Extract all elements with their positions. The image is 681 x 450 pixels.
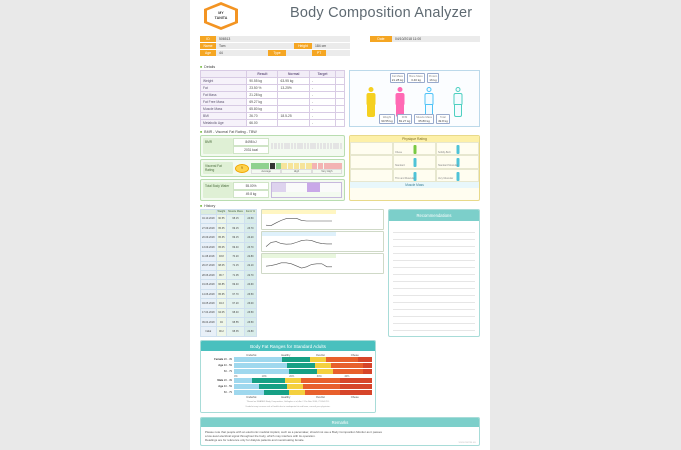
bfr-note-2: Underfat may increase risk of health due… bbox=[204, 406, 372, 409]
bfr-category: Healthy bbox=[269, 396, 304, 399]
age-label: Age bbox=[200, 50, 216, 56]
table-row: 26.07.201898.0571.1522.10 bbox=[201, 261, 257, 270]
history-charts: WeightMuscle MassFat in % bbox=[261, 209, 384, 337]
details-col-3: Target bbox=[309, 71, 335, 78]
name-value[interactable]: Tom bbox=[216, 43, 294, 49]
table-row: 11.08.201893.870.2022.80 bbox=[201, 252, 257, 261]
bfr-title: Body Fat Ranges for Standard Adults bbox=[201, 341, 375, 351]
details-col-0 bbox=[201, 71, 247, 78]
diagram-chip: Muscle Mass65.80 kg bbox=[414, 114, 434, 124]
recommendation-line[interactable] bbox=[393, 289, 475, 296]
bfr-row: 60 - 79 bbox=[204, 390, 372, 395]
recommendations-panel: Recommendations bbox=[388, 209, 480, 337]
physique-rating-panel: Physique Rating ObeseSolidly-BuiltStanda… bbox=[349, 135, 480, 201]
recommendations-body[interactable] bbox=[389, 221, 479, 336]
recommendation-line[interactable] bbox=[393, 303, 475, 310]
report-page: MY TANITA Body Composition Analyzer Date… bbox=[190, 0, 490, 450]
table-row: Fat23.50 %13-25%- bbox=[201, 85, 345, 92]
visceral-scale-label: High bbox=[281, 169, 311, 174]
patient-info-bar: Date 04/10/2018 11:00 ID 506513 Name Tom… bbox=[200, 36, 480, 62]
body-figure-icon bbox=[365, 87, 376, 117]
bfr-category: Obese bbox=[338, 396, 373, 399]
bfr-row: Age 40 - 59 bbox=[204, 363, 372, 368]
recommendation-line[interactable] bbox=[393, 324, 475, 331]
table-row: 20.09.201895.3569.1524.20 bbox=[201, 233, 257, 242]
details-col-4 bbox=[336, 71, 345, 78]
remarks-line-3: Readings are for reference only for dial… bbox=[205, 438, 475, 442]
body-figure-icon bbox=[394, 87, 405, 117]
type-value[interactable] bbox=[286, 50, 312, 56]
id-row: ID 506513 bbox=[200, 36, 350, 42]
logo-line2: TANITA bbox=[215, 16, 228, 21]
table-row: 13.09.201895.0569.4023.70 bbox=[201, 242, 257, 251]
physique-cell: Standard Muscular bbox=[436, 155, 479, 168]
history-section: WeightMuscle MassFat in % 04.10.201890.5… bbox=[200, 209, 480, 337]
visceral-dial: 9 bbox=[235, 164, 249, 173]
bfr-row: Age 40 - 59 bbox=[204, 384, 372, 389]
table-row: 14.06.201895.6567.7023.50 bbox=[201, 289, 257, 298]
bmr-kj: 8498 kJ bbox=[233, 138, 269, 146]
age-row: Age 44 Type PT bbox=[200, 50, 350, 56]
recommendation-line[interactable] bbox=[393, 268, 475, 275]
height-value[interactable]: 184 cm bbox=[312, 43, 350, 49]
bmr-kcal: 2031 kcal bbox=[233, 146, 269, 154]
recommendation-line[interactable] bbox=[393, 296, 475, 303]
history-chart: Fat in % bbox=[261, 253, 384, 274]
page-title: Body Composition Analyzer bbox=[290, 5, 472, 21]
table-row: 04.10.201890.5568.1524.50 bbox=[201, 214, 257, 223]
body-figure-icon bbox=[424, 87, 435, 117]
type-label: Type bbox=[268, 50, 286, 56]
details-header-row: ResultNormalTarget bbox=[201, 71, 345, 78]
bfr-row: Female 20 - 39 bbox=[204, 357, 372, 362]
physique-cell: Standard bbox=[393, 155, 436, 168]
tbw-mass: 49.8 kg bbox=[233, 190, 269, 198]
details-section: ResultNormalTarget Weight90.55 kg63-95 k… bbox=[200, 70, 480, 127]
tbw-box: Total Body Water 55.00% 49.8 kg bbox=[200, 179, 345, 201]
recommendation-line[interactable] bbox=[393, 254, 475, 261]
date-label: Date bbox=[370, 36, 392, 42]
bottom-row: Body Fat Ranges for Standard Adults Unde… bbox=[200, 340, 480, 413]
body-composition-diagram: Fat Mass21.28 kgBone Mass3.40 kgProtein1… bbox=[349, 70, 480, 127]
physique-grid: ObeseSolidly-BuiltStandardStandard Muscu… bbox=[350, 142, 479, 182]
physique-cell bbox=[350, 155, 393, 168]
recommendation-line[interactable] bbox=[393, 240, 475, 247]
table-row: Fat Free Mass69.27 kg- bbox=[201, 99, 345, 106]
table-row: 04.05.201894.367.2023.00 bbox=[201, 299, 257, 308]
physique-cell: Thin and Muscular bbox=[393, 169, 436, 182]
remarks-title: Remarks bbox=[201, 418, 479, 427]
section-title-bmr: BMR - Visceral Fat Rating - TBW bbox=[200, 130, 490, 134]
bmr-label: BMR bbox=[203, 138, 233, 154]
name-label: Name bbox=[200, 43, 216, 49]
physique-cell: Solidly-Built bbox=[436, 142, 479, 155]
tbw-label: Total Body Water bbox=[203, 182, 233, 198]
bfr-category: Overfat bbox=[303, 396, 338, 399]
body-figure-icon bbox=[453, 87, 464, 117]
table-row: BMI26.7018.5-25- bbox=[201, 113, 345, 120]
bfr-note-1: *Based on NHANES Body Composition, Galla… bbox=[204, 401, 372, 404]
remarks-panel: Remarks Please note that people with an … bbox=[200, 417, 480, 447]
table-row: Metabolic Age66.00- bbox=[201, 120, 345, 127]
diagram-chip: Bone Mass3.40 kg bbox=[407, 73, 424, 83]
details-table: ResultNormalTarget Weight90.55 kg63-95 k… bbox=[200, 70, 345, 127]
recommendation-line[interactable] bbox=[393, 275, 475, 282]
section-title-details: Details bbox=[200, 65, 490, 69]
recommendations-title: Recommendations bbox=[389, 210, 479, 221]
name-row: Name Tom Height 184 cm bbox=[200, 43, 350, 49]
visceral-label: Visceral Fat Rating bbox=[203, 162, 233, 174]
id-value[interactable]: 506513 bbox=[216, 36, 350, 42]
physique-cell: Very Muscular bbox=[436, 169, 479, 182]
table-row: Fat Mass21.28 kg- bbox=[201, 92, 345, 99]
diagram-chip: Fat Mass21.28 kg bbox=[390, 73, 406, 83]
tbw-bar bbox=[271, 182, 342, 198]
age-value[interactable]: 44 bbox=[216, 50, 268, 56]
recommendation-line[interactable] bbox=[393, 233, 475, 240]
id-label: ID bbox=[200, 36, 216, 42]
recommendation-line[interactable] bbox=[393, 282, 475, 289]
bmr-bar bbox=[271, 138, 342, 154]
details-col-1: Result bbox=[247, 71, 278, 78]
bmr-box: BMR 8498 kJ 2031 kcal bbox=[200, 135, 345, 157]
physique-cell bbox=[350, 142, 393, 155]
section-title-history: History bbox=[200, 204, 490, 208]
table-row: 17.04.201894.0568.4023.50 bbox=[201, 308, 257, 317]
diagram-bottom-chips: Weight90.55 kgFFM69.27 kgMuscle Mass65.8… bbox=[350, 114, 479, 124]
table-row: Weight90.55 kg63-95 kg- bbox=[201, 78, 345, 85]
history-chart: Weight bbox=[261, 209, 384, 230]
diagram-chip: Total49.8 kg bbox=[436, 114, 450, 124]
report-header: MY TANITA Body Composition Analyzer bbox=[190, 0, 490, 30]
diagram-top-chips: Fat Mass21.28 kgBone Mass3.40 kgProtein1… bbox=[350, 71, 479, 83]
table-row: 19.06.201896.8569.4024.60 bbox=[201, 280, 257, 289]
visceral-fat-box: Visceral Fat Rating 9 AverageHighVery Hi… bbox=[200, 159, 345, 177]
date-row: Date 04/10/2018 11:00 bbox=[370, 36, 480, 42]
visceral-scale-label: Very High bbox=[312, 169, 342, 174]
bfr-body: UnderfatHealthyOverfatObese Female 20 - … bbox=[201, 351, 375, 412]
pt-label: PT bbox=[312, 50, 326, 56]
body-figures bbox=[350, 83, 479, 117]
history-table: WeightMuscle MassFat in % 04.10.201890.5… bbox=[200, 209, 257, 337]
bfr-categories-bottom: UnderfatHealthyOverfatObese bbox=[234, 396, 372, 399]
bfr-category: Underfat bbox=[234, 396, 269, 399]
visceral-scale-label: Average bbox=[251, 169, 281, 174]
height-label: Height bbox=[294, 43, 312, 49]
details-col-2: Normal bbox=[278, 71, 309, 78]
bfr-row: 60 - 79 bbox=[204, 369, 372, 374]
bfr-row: Male 20 - 39 bbox=[204, 378, 372, 383]
table-row: Initial90.268.3522.80 bbox=[201, 327, 257, 337]
recommendation-line[interactable] bbox=[393, 247, 475, 254]
history-chart: Muscle Mass bbox=[261, 231, 384, 252]
pt-value[interactable] bbox=[326, 50, 350, 56]
recommendation-line[interactable] bbox=[393, 317, 475, 324]
footer-text: www.tanita.eu bbox=[459, 440, 476, 444]
recommendation-line[interactable] bbox=[393, 310, 475, 317]
table-row: 09.04.20189468.5523.50 bbox=[201, 318, 257, 327]
bmr-section: BMR 8498 kJ 2031 kcal Visceral Fat Ratin… bbox=[200, 135, 480, 201]
tbw-percent: 55.00% bbox=[233, 182, 269, 190]
recommendation-line[interactable] bbox=[393, 261, 475, 268]
remarks-body: Please note that people with an electron… bbox=[201, 427, 479, 446]
table-row: Muscle Mass65.80 kg- bbox=[201, 106, 345, 113]
date-value: 04/10/2018 11:00 bbox=[392, 36, 480, 42]
diagram-chip: Weight90.55 kg bbox=[379, 114, 395, 124]
bfr-female-rows: Female 20 - 39Age 40 - 59 60 - 79 bbox=[204, 357, 372, 374]
body-fat-ranges-panel: Body Fat Ranges for Standard Adults Unde… bbox=[200, 340, 376, 413]
physique-cell: Obese bbox=[393, 142, 436, 155]
diagram-chip: FFM69.27 kg bbox=[397, 114, 413, 124]
physique-cell bbox=[350, 169, 393, 182]
table-row: 27.09.201895.3569.1523.70 bbox=[201, 224, 257, 233]
table-row: 28.06.201896.771.0522.70 bbox=[201, 271, 257, 280]
recommendation-line[interactable] bbox=[393, 226, 475, 233]
visceral-scale: AverageHighVery High bbox=[251, 163, 342, 174]
bfr-male-rows: Male 20 - 39Age 40 - 59 60 - 79 bbox=[204, 378, 372, 395]
physique-axis-label: Muscle Mass bbox=[350, 182, 479, 188]
tanita-logo: MY TANITA bbox=[204, 2, 238, 30]
diagram-chip: Protein16 kg bbox=[427, 73, 440, 83]
